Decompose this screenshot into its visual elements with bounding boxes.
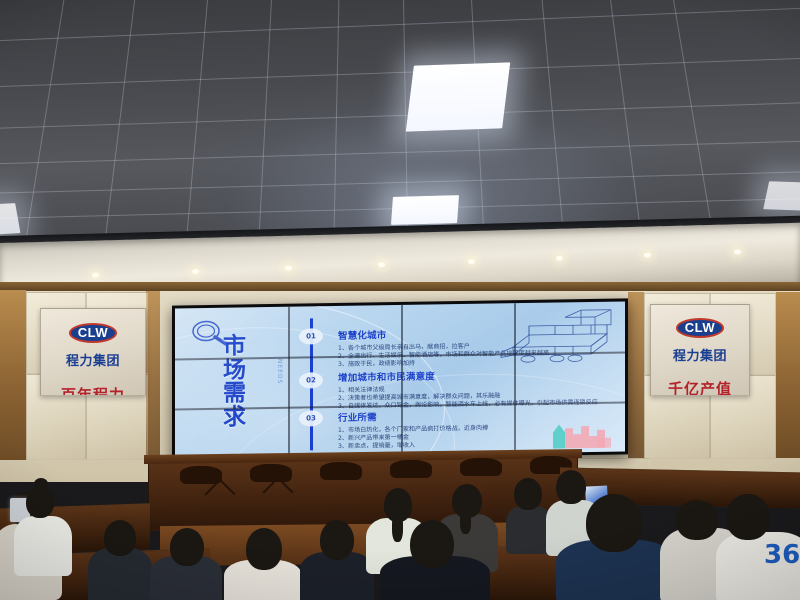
marker-label: 02	[306, 376, 316, 384]
sign-slogan-right: 千亿产值	[668, 378, 732, 396]
title-char: 市	[223, 335, 246, 359]
downlight	[468, 259, 475, 264]
wall-top-trim	[0, 282, 800, 291]
downlight	[92, 272, 99, 277]
title-char: 场	[223, 359, 246, 383]
downlight	[378, 262, 385, 267]
audience-person-head	[26, 486, 54, 518]
wall-wood-pilaster	[628, 292, 644, 458]
slide-section-03: 行业所需 1、市场白热化，各个厂家和产品疯打价格战，近身肉搏 2、新兴产品带来第…	[338, 408, 488, 451]
pink-city-graphic	[551, 420, 615, 451]
clw-logo-right: CLW	[676, 318, 724, 338]
ceiling-light-panel	[763, 181, 800, 211]
wall-wood-pilaster	[776, 292, 800, 458]
marker-label: 03	[306, 414, 316, 422]
chair-back	[390, 460, 432, 478]
marker-label: 01	[306, 332, 316, 340]
video-wall-screen[interactable]: 市 场 需 求 NEEDS 01 02 03	[175, 301, 625, 458]
video-wall-seam	[401, 305, 403, 455]
led-video-wall[interactable]: 市 场 需 求 NEEDS 01 02 03	[172, 298, 628, 461]
chair-back	[180, 466, 222, 484]
wall-sign-right: CLW 程力集团 千亿产值	[650, 304, 750, 396]
title-char: 求	[223, 406, 246, 430]
presentation-slide: 市 场 需 求 NEEDS 01 02 03	[175, 301, 625, 458]
audience-person-head	[726, 494, 770, 540]
audience-person-head	[586, 494, 642, 552]
chair-back	[250, 464, 292, 482]
downlight	[285, 266, 292, 271]
audience-person-head	[246, 528, 282, 570]
slide-vertical-title: 市 场 需 求	[223, 335, 246, 430]
chair-back	[460, 458, 502, 476]
section-heading: 行业所需	[338, 408, 488, 424]
ceiling-light-panel	[391, 195, 459, 225]
video-wall-seam	[288, 307, 290, 457]
sign-company-left: 程力集团	[66, 350, 120, 369]
wall-wood-pilaster	[0, 290, 26, 460]
audience-person-head	[320, 520, 354, 560]
audience-person-head	[104, 520, 136, 556]
audience-person-head	[676, 500, 718, 540]
sign-company-right: 程力集团	[673, 345, 727, 364]
audience-person-head	[514, 478, 542, 510]
conference-hall-photo: CLW 程力集团 百年程力 CLW 程力集团 千亿产值	[0, 0, 800, 600]
downlight	[192, 269, 199, 274]
wall-wood-pilaster	[146, 291, 160, 459]
sign-slogan-left: 百年程力	[61, 384, 125, 396]
shirt-logo: 36	[764, 540, 800, 570]
audience-person-head	[170, 528, 204, 566]
chair-back	[320, 462, 362, 480]
wall-sign-left: CLW 程力集团 百年程力	[40, 308, 146, 396]
section-heading: 增加城市和市民满意度	[338, 366, 598, 384]
ponytail	[392, 512, 403, 542]
downlight	[556, 256, 563, 261]
video-wall-seam	[514, 303, 516, 453]
ceiling-light-panel	[406, 62, 511, 131]
title-char: 需	[223, 383, 246, 407]
ponytail	[460, 508, 471, 534]
audience-person-body	[14, 516, 72, 576]
audience-person-head	[556, 470, 586, 504]
clw-logo-left: CLW	[69, 323, 117, 343]
hair-bun	[34, 478, 48, 490]
downlight	[734, 249, 741, 254]
downlight	[644, 253, 651, 258]
audience-person-head	[410, 520, 454, 568]
slide-side-code: NEEDS	[276, 359, 283, 385]
